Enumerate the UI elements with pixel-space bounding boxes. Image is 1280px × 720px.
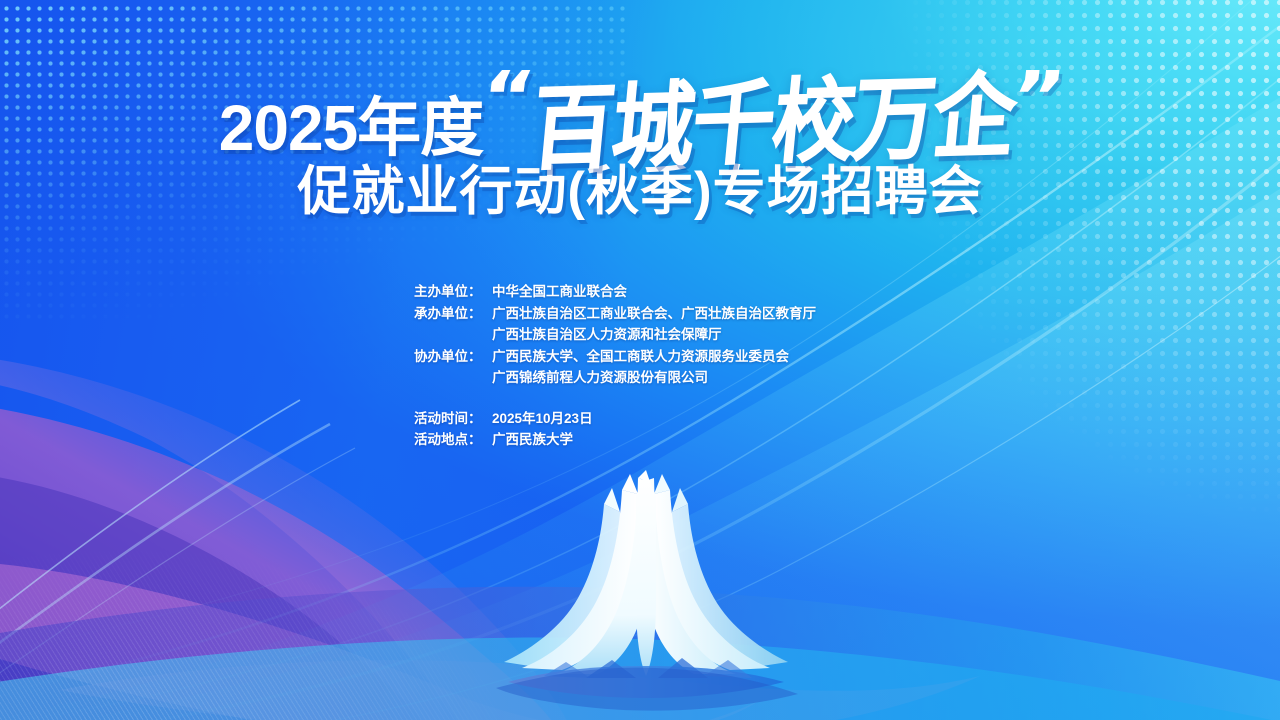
halftone-dots-top-right — [870, 0, 1280, 530]
host-row-2: 广西壮族自治区人力资源和社会保障厅 — [414, 324, 816, 346]
coorganizer-value-line2: 广西锦绣前程人力资源股份有限公司 — [492, 370, 708, 385]
organizer-row: 主办单位：中华全国工商业联合会 — [414, 281, 816, 303]
halftone-dots-top-left — [0, 0, 630, 322]
event-time-label: 活动时间： — [414, 408, 492, 430]
details-spacer — [414, 389, 816, 408]
organizer-label: 主办单位： — [414, 281, 492, 303]
event-place-label: 活动地点： — [414, 429, 492, 451]
event-place-row: 活动地点：广西民族大学 — [414, 429, 816, 451]
event-poster: 2025年度 “ 百城千校万企 ” 促就业行动(秋季)专场招聘会 主办单位：中华… — [0, 0, 1280, 720]
coorganizer-row: 协办单位：广西民族大学、全国工商联人力资源服务业委员会 — [414, 346, 816, 368]
organizer-value: 中华全国工商业联合会 — [492, 284, 627, 299]
coorganizer-row-2: 广西锦绣前程人力资源股份有限公司 — [414, 367, 816, 389]
host-value-line1: 广西壮族自治区工商业联合会、广西壮族自治区教育厅 — [492, 306, 816, 321]
event-time-value: 2025年10月23日 — [492, 411, 593, 426]
event-time-row: 活动时间：2025年10月23日 — [414, 408, 816, 430]
host-row: 承办单位：广西壮族自治区工商业联合会、广西壮族自治区教育厅 — [414, 303, 816, 325]
host-label: 承办单位： — [414, 303, 492, 325]
event-place-value: 广西民族大学 — [492, 432, 573, 447]
monument-tower-graphic — [486, 470, 806, 720]
coorganizer-label: 协办单位： — [414, 346, 492, 368]
event-details-block: 主办单位：中华全国工商业联合会 承办单位：广西壮族自治区工商业联合会、广西壮族自… — [414, 281, 816, 451]
coorganizer-value-line1: 广西民族大学、全国工商联人力资源服务业委员会 — [492, 349, 789, 364]
host-value-line2: 广西壮族自治区人力资源和社会保障厅 — [492, 327, 722, 342]
mesh-texture-bottom-left — [0, 500, 520, 720]
